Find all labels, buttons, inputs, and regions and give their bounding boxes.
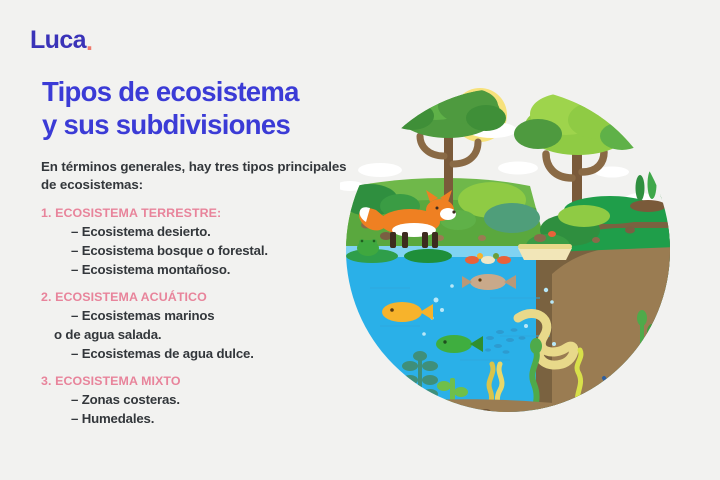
pond-floor: [340, 399, 700, 460]
section-terrestre: 1. ECOSISTEMA TERRESTRE: – Ecosistema de…: [41, 206, 361, 280]
frog-icon: [357, 239, 379, 256]
tree-canopy: [390, 80, 506, 138]
rock: [534, 234, 546, 242]
cypress-tree: [660, 179, 668, 201]
tree-branch: [420, 136, 444, 156]
mound: [630, 200, 666, 212]
bush-light: [558, 205, 610, 227]
section-item-continuation: o de agua salada.: [41, 326, 361, 345]
scene-circle: [340, 80, 700, 460]
tree-branch: [453, 142, 478, 164]
cloud-icon: [358, 163, 402, 177]
section-item: – Humedales.: [41, 410, 361, 429]
tree-canopy: [514, 93, 644, 155]
duck: [481, 256, 495, 264]
cypress-tree: [648, 169, 657, 199]
luca-logo: Luca.: [30, 26, 92, 55]
boat-icon: [518, 244, 572, 260]
intro-paragraph: En términos generales, hay tres tipos pr…: [41, 158, 351, 193]
lilypad: [404, 249, 452, 263]
cloud-icon: [498, 162, 538, 175]
right-land-bank: [526, 169, 700, 460]
section-item: – Ecosistemas de agua dulce.: [41, 345, 361, 364]
rock: [625, 227, 635, 234]
rock: [478, 235, 486, 241]
coral: [604, 378, 607, 404]
section-item: – Ecosistema montañoso.: [41, 261, 361, 280]
rock: [592, 237, 600, 243]
page-title-line1: Tipos de ecosistema: [42, 76, 382, 109]
logo-dot: .: [86, 30, 92, 55]
cypress-trees: [630, 169, 668, 212]
page-title: Tipos de ecosistema y sus subdivisiones: [42, 76, 382, 141]
page-title-line2: y sus subdivisiones: [42, 109, 382, 142]
buoy: [548, 231, 556, 237]
section-heading: 1. ECOSISTEMA TERRESTRE:: [41, 206, 361, 220]
section-heading: 2. ECOSISTEMA ACUÁTICO: [41, 290, 361, 304]
bush: [484, 203, 540, 233]
section-heading: 3. ECOSISTEMA MIXTO: [41, 374, 361, 388]
section-item: – Zonas costeras.: [41, 391, 361, 410]
duck-head: [477, 253, 483, 259]
ecosystem-cross-section-illustration: [340, 60, 700, 460]
infographic-page: Luca. Tipos de ecosistema y sus subdivis…: [0, 0, 720, 480]
section-item: – Ecosistema bosque o forestal.: [41, 242, 361, 261]
cypress-tree: [636, 175, 645, 201]
duck: [497, 256, 511, 264]
section-acuatico: 2. ECOSISTEMA ACUÁTICO – Ecosistemas mar…: [41, 290, 361, 364]
tree-branch: [582, 152, 604, 172]
ecosystem-sections: 1. ECOSISTEMA TERRESTRE: – Ecosistema de…: [41, 206, 361, 440]
tree-branch: [546, 154, 572, 178]
section-item: – Ecosistemas marinos: [41, 307, 361, 326]
section-item: – Ecosistema desierto.: [41, 223, 361, 242]
section-mixto: 3. ECOSISTEMA MIXTO – Zonas costeras. – …: [41, 374, 361, 429]
seaweed-tip: [530, 338, 542, 354]
duck: [465, 256, 479, 264]
logo-wordmark: Luca: [30, 26, 86, 55]
duck-head: [493, 253, 499, 259]
